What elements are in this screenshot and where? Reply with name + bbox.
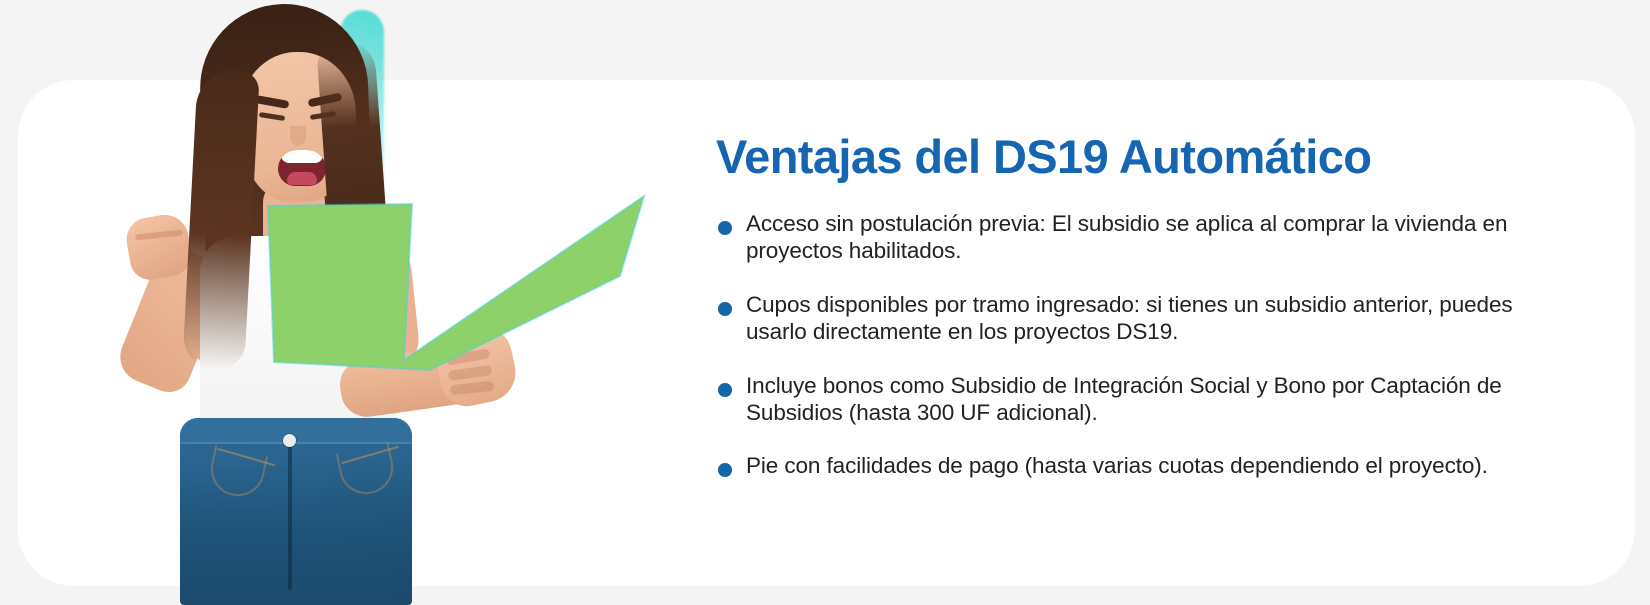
nose — [290, 126, 306, 146]
list-item-text: Pie con facilidades de pago (hasta varia… — [746, 453, 1488, 478]
list-item-text: Cupos disponibles por tramo ingresado: s… — [746, 292, 1513, 344]
hero-image — [40, 0, 690, 605]
jeans-fly — [288, 440, 292, 590]
benefits-list: Acceso sin postulación previa: El subsid… — [716, 210, 1546, 480]
bullet-dot-icon — [718, 463, 732, 477]
teeth — [281, 150, 323, 163]
promo-banner: Ventajas del DS19 Automático Acceso sin … — [0, 0, 1650, 605]
jeans-button — [283, 434, 296, 447]
list-item: Acceso sin postulación previa: El subsid… — [716, 210, 1546, 265]
bullet-dot-icon — [718, 302, 732, 316]
content-column: Ventajas del DS19 Automático Acceso sin … — [716, 132, 1546, 480]
green-checkmark-icon — [262, 192, 662, 372]
bullet-dot-icon — [718, 221, 732, 235]
list-item: Pie con facilidades de pago (hasta varia… — [716, 452, 1546, 479]
jeans-waistband — [180, 418, 412, 444]
list-item-text: Acceso sin postulación previa: El subsid… — [746, 211, 1507, 263]
tongue — [287, 172, 317, 185]
bullet-dot-icon — [718, 383, 732, 397]
list-item: Incluye bonos como Subsidio de Integraci… — [716, 372, 1546, 427]
list-item-text: Incluye bonos como Subsidio de Integraci… — [746, 373, 1502, 425]
page-title: Ventajas del DS19 Automático — [716, 132, 1546, 182]
list-item: Cupos disponibles por tramo ingresado: s… — [716, 291, 1546, 346]
open-mouth — [278, 150, 326, 186]
